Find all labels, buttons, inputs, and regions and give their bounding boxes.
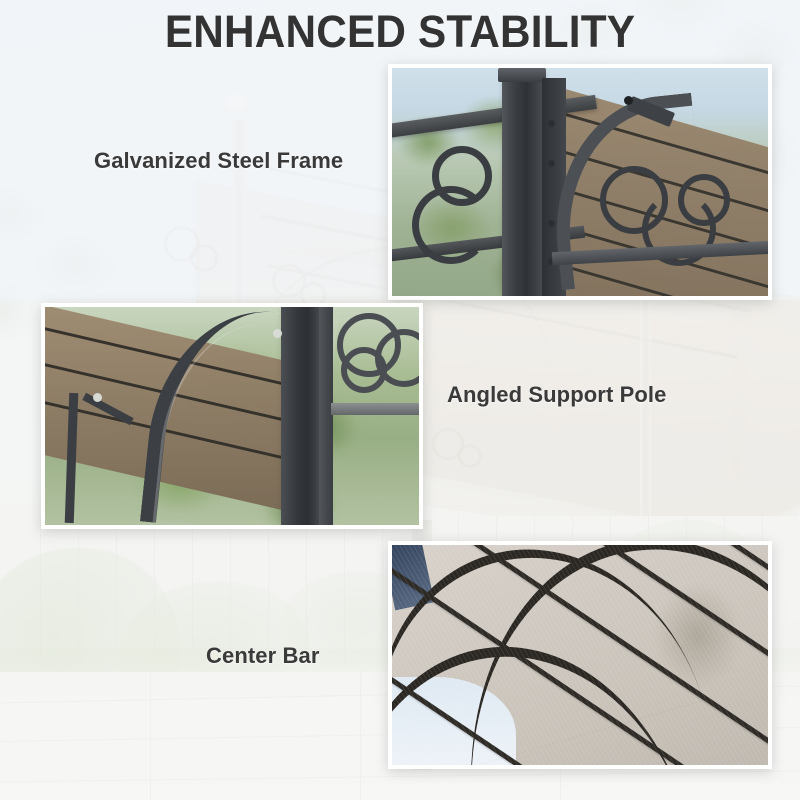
scroll-ornament (341, 347, 387, 393)
photo-vertical-post-edge (319, 307, 333, 525)
photo-rail (331, 403, 419, 415)
page-title: ENHANCED STABILITY (24, 6, 776, 58)
photo-support-pole (45, 307, 419, 525)
feature-label-angled-support-pole: Angled Support Pole (447, 382, 666, 408)
photo-vertical-post (281, 307, 319, 525)
photo-steel-post (502, 72, 542, 296)
photo-panel-texture (392, 545, 768, 765)
feature-label-galvanized-steel-frame: Galvanized Steel Frame (94, 148, 343, 174)
feature-label-center-bar: Center Bar (206, 643, 319, 669)
product-feature-graphic: ENHANCED STABILITY (0, 0, 800, 800)
inset-center-bar (388, 541, 772, 769)
photo-steel-frame (392, 68, 768, 296)
photo-center-bar (392, 545, 768, 765)
inset-support-pole (41, 303, 423, 529)
photo-post-cap (498, 68, 546, 82)
scroll-ornament (678, 174, 730, 226)
scroll-ornament (412, 186, 490, 264)
inset-steel-frame (388, 64, 772, 300)
